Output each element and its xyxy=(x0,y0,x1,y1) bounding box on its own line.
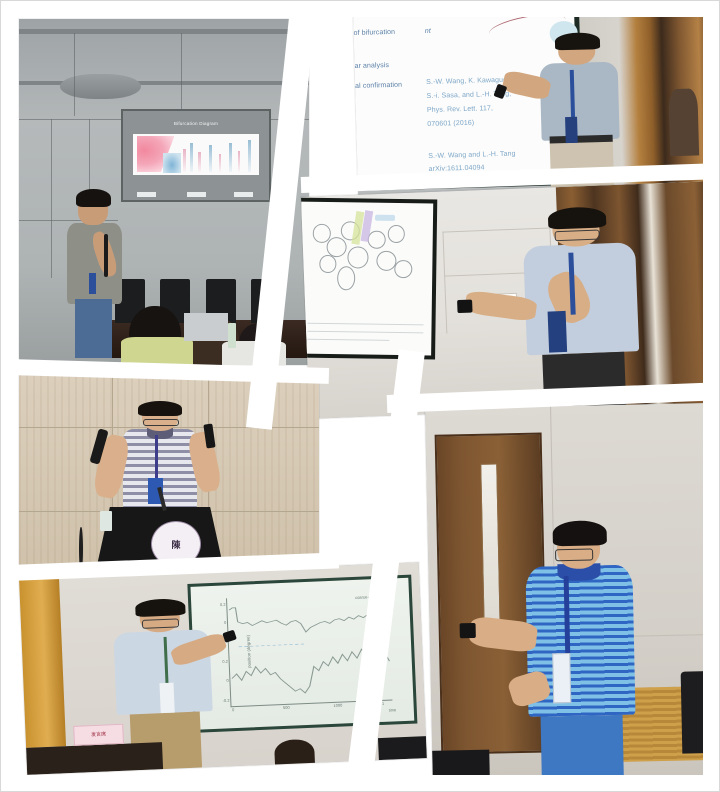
name-badge xyxy=(553,653,571,703)
microphone xyxy=(104,234,108,276)
bifurcation-spike xyxy=(198,152,201,173)
background-person xyxy=(669,89,699,157)
presenter-figure xyxy=(524,527,637,778)
name-badge xyxy=(89,273,96,294)
series-coarse-grained xyxy=(229,601,388,635)
bifurcation-spike xyxy=(238,151,241,172)
presentation-clicker xyxy=(459,623,475,638)
x-tick-label: 1000 xyxy=(333,703,342,708)
laptop xyxy=(427,750,490,781)
reference-line-3: Phys. Rev. Lett. 117, xyxy=(427,104,493,116)
door-scene xyxy=(425,403,717,781)
schematic-ring xyxy=(337,267,355,291)
photo-panel-middle-right xyxy=(301,181,720,419)
slide-line-1: of bifurcation xyxy=(353,28,395,39)
y-tick-label: -0.2 xyxy=(223,698,230,703)
schematic-ring xyxy=(347,247,369,269)
slide-caption-box xyxy=(187,192,206,196)
photo-panel-bottom-left: position (degree) 0.2 0 -0.2 0.2 0 -0.2 … xyxy=(19,562,427,775)
x-tick-label: 500 xyxy=(283,705,290,710)
projection-screen: Bifurcation Diagram xyxy=(121,109,272,202)
water-bottle xyxy=(100,511,112,531)
slide-line-2: ar analysis xyxy=(354,61,389,72)
audience-head xyxy=(274,739,315,768)
schematic-ring xyxy=(376,251,396,271)
y-tick-label: 0.2 xyxy=(220,602,226,607)
wall-seam xyxy=(51,119,52,278)
eyeglasses xyxy=(555,230,600,242)
eyeglasses xyxy=(141,619,179,629)
presenter-shirt xyxy=(540,62,620,141)
schematic-label-box xyxy=(375,215,396,221)
presenter-trousers xyxy=(543,352,626,410)
door-vision-panel xyxy=(480,464,500,641)
bifurcation-spike xyxy=(183,149,186,172)
laptop xyxy=(184,313,228,341)
gutter-left xyxy=(1,1,17,792)
speaker-figure xyxy=(65,192,123,355)
photo-panel-top-left: Bifurcation Diagram xyxy=(19,19,309,365)
name-badge xyxy=(547,311,567,353)
x-axis-label: time xyxy=(389,707,397,712)
bifurcation-region-blue xyxy=(163,153,181,173)
y-tick-label: 0 xyxy=(226,678,228,683)
x-tick-label: 1 xyxy=(382,701,384,706)
reference-line-6: arXiv:1611.04094 xyxy=(429,164,485,176)
slide-symbol-1: nt xyxy=(425,27,431,37)
ceiling xyxy=(19,19,309,123)
framed-poster xyxy=(301,198,437,360)
speaker-hair xyxy=(76,189,111,207)
y-tick-label: 0.2 xyxy=(222,658,228,663)
bifurcation-spike xyxy=(190,143,193,173)
eyeglasses xyxy=(143,419,179,426)
poster-text-line xyxy=(307,339,389,341)
projection-screen: position (degree) 0.2 0 -0.2 0.2 0 -0.2 … xyxy=(187,574,417,732)
lanyard xyxy=(155,435,158,481)
presenter-trousers xyxy=(541,715,624,779)
name-badge xyxy=(160,683,174,713)
series-details xyxy=(231,648,391,696)
poster-scene xyxy=(301,181,720,419)
plot-presentation-scene: position (degree) 0.2 0 -0.2 0.2 0 -0.2 … xyxy=(19,562,427,775)
schematic-ring xyxy=(319,255,336,273)
wood-column xyxy=(19,577,66,747)
speaker-hair xyxy=(135,599,185,618)
ceiling-beam xyxy=(19,29,309,34)
speaker-legs xyxy=(75,299,112,358)
presentation-clicker xyxy=(457,299,472,313)
reference-dashed-line xyxy=(239,644,307,647)
audience-shirt xyxy=(121,337,194,365)
photo-collage: Bifurcation Diagram xyxy=(0,0,720,792)
gutter-bottom xyxy=(1,775,720,791)
slide-line-3: al confirmation xyxy=(355,81,402,92)
slide-title: Bifurcation Diagram xyxy=(174,121,218,126)
bifurcation-spike xyxy=(229,143,232,172)
schematic-ring xyxy=(394,260,412,279)
speaker-hair xyxy=(138,401,182,416)
time-series-plot: position (degree) 0.2 0 -0.2 0.2 0 -0.2 … xyxy=(226,591,393,707)
podium-scene: 陳 xyxy=(19,371,319,571)
molecular-schematic xyxy=(308,210,423,303)
x-tick-label: 0 xyxy=(232,707,234,712)
front-table xyxy=(26,742,163,775)
plot-traces xyxy=(227,591,393,706)
bifurcation-spike xyxy=(219,154,222,172)
presenter-hair xyxy=(554,32,600,50)
photo-panel-top-right: of bifurcation nt d ar analysis al confi… xyxy=(353,1,714,209)
reference-line-4: 070601 (2016) xyxy=(427,119,474,130)
ceiling-grid-line xyxy=(74,33,75,116)
presenter-figure xyxy=(539,35,622,203)
lecture-hall-scene: Bifurcation Diagram xyxy=(19,19,309,365)
slide-bifurcation-image xyxy=(133,134,259,175)
cable xyxy=(79,527,83,571)
schematic-ring xyxy=(388,225,405,243)
name-badge xyxy=(565,116,578,143)
photo-panel-bottom-right xyxy=(425,403,717,781)
presenter-figure xyxy=(524,211,639,410)
ceiling-grid-line xyxy=(181,33,182,109)
photo-panel-middle-left: 陳 xyxy=(19,371,319,571)
laptop xyxy=(378,737,427,761)
bifurcation-spike xyxy=(209,145,212,172)
university-emblem: 陳 xyxy=(151,521,201,567)
poster-text-line xyxy=(307,331,423,334)
ceiling-dome-light xyxy=(60,74,141,98)
slide-caption-box xyxy=(234,192,253,196)
speaker-placard: 发言席 xyxy=(73,724,124,746)
poster-text-line xyxy=(307,324,423,327)
bifurcation-spike xyxy=(248,140,251,172)
eyeglasses xyxy=(555,548,594,561)
schematic-ring xyxy=(367,231,385,250)
whiteboard-scene: of bifurcation nt d ar analysis al confi… xyxy=(353,1,714,209)
water-bottle xyxy=(228,323,237,347)
presenter-hair xyxy=(552,520,606,546)
chair xyxy=(681,671,717,754)
chair xyxy=(251,279,281,324)
slide-caption-box xyxy=(137,192,156,196)
y-tick-label: 0 xyxy=(224,619,226,624)
